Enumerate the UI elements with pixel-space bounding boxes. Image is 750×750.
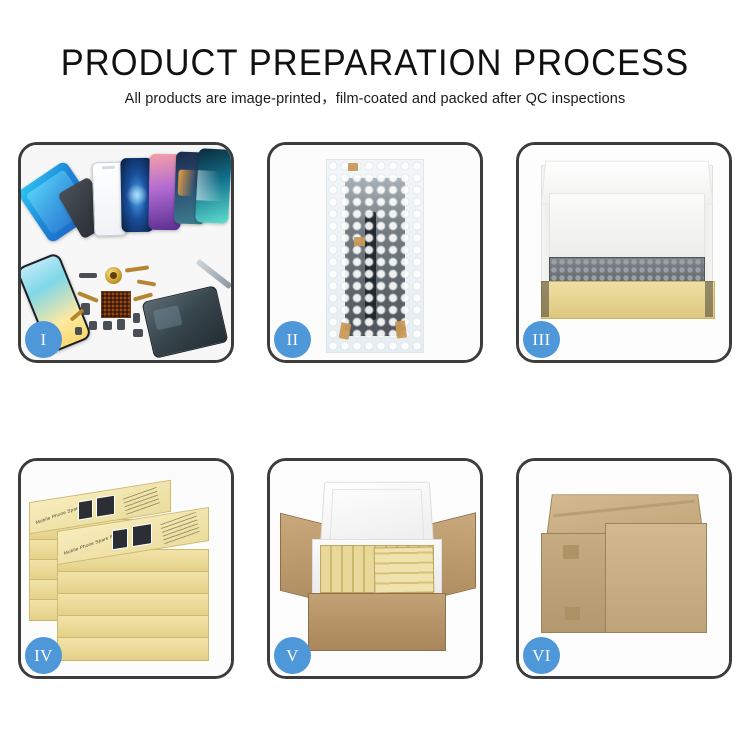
box-print-thumbnail	[96, 495, 115, 518]
process-step-panel-5: V	[267, 458, 483, 679]
screw-grid-tray	[101, 291, 131, 318]
process-step-panel-2: II	[267, 142, 483, 363]
small-part	[79, 273, 97, 278]
tape-piece	[395, 320, 407, 338]
step-badge-4: IV	[25, 637, 62, 674]
box-print-thumbnail	[78, 499, 93, 520]
phone-housing-frame	[141, 285, 228, 359]
stacked-box	[57, 615, 209, 639]
carton-right-face	[605, 523, 707, 633]
yellow-box-wall	[541, 281, 715, 319]
carton-label-tab	[565, 607, 580, 620]
box-corner-right	[705, 281, 713, 317]
carton-front-wall	[308, 593, 446, 651]
page-title: PRODUCT PREPARATION PROCESS	[26, 44, 724, 81]
carton-label-tab	[563, 545, 579, 559]
box-print-thumbnail	[112, 528, 128, 551]
process-step-panel-6: VI	[516, 458, 732, 679]
tape-piece	[348, 163, 358, 171]
small-part	[75, 327, 82, 335]
step-badge-6: VI	[523, 637, 560, 674]
small-part	[133, 329, 143, 337]
product-preparation-infographic: PRODUCT PREPARATION PROCESS All products…	[0, 0, 750, 750]
step-badge-2: II	[274, 321, 311, 358]
small-part	[117, 319, 125, 330]
small-part	[89, 321, 97, 330]
small-part	[103, 321, 112, 330]
step-badge-3: III	[523, 321, 560, 358]
tape-piece	[354, 237, 365, 246]
process-step-grid: I II	[18, 142, 732, 679]
process-step-panel-1: I	[18, 142, 234, 363]
small-part	[133, 313, 140, 323]
flex-cable	[77, 291, 99, 303]
phone-display-teal	[195, 148, 231, 224]
flex-cable	[125, 265, 149, 272]
box-print-thumbnail	[132, 523, 152, 547]
speaker-component	[105, 267, 122, 284]
tweezers-tool	[196, 259, 231, 290]
process-step-panel-3: III	[516, 142, 732, 363]
stacked-box	[57, 571, 209, 595]
process-step-panel-4: Mobile Phone Spare Parts Mobile Phone	[18, 458, 234, 679]
stacked-box	[57, 593, 209, 617]
packed-yellow-boxes-row2	[374, 546, 435, 593]
white-foam-sheet	[549, 193, 705, 261]
page-subtitle: All products are image-printed，film-coat…	[0, 92, 750, 107]
step-badge-1: I	[25, 321, 62, 358]
step-badge-5: V	[274, 637, 311, 674]
box-corner-left	[541, 281, 549, 317]
flex-cable	[137, 279, 156, 286]
stacked-box	[57, 637, 209, 661]
